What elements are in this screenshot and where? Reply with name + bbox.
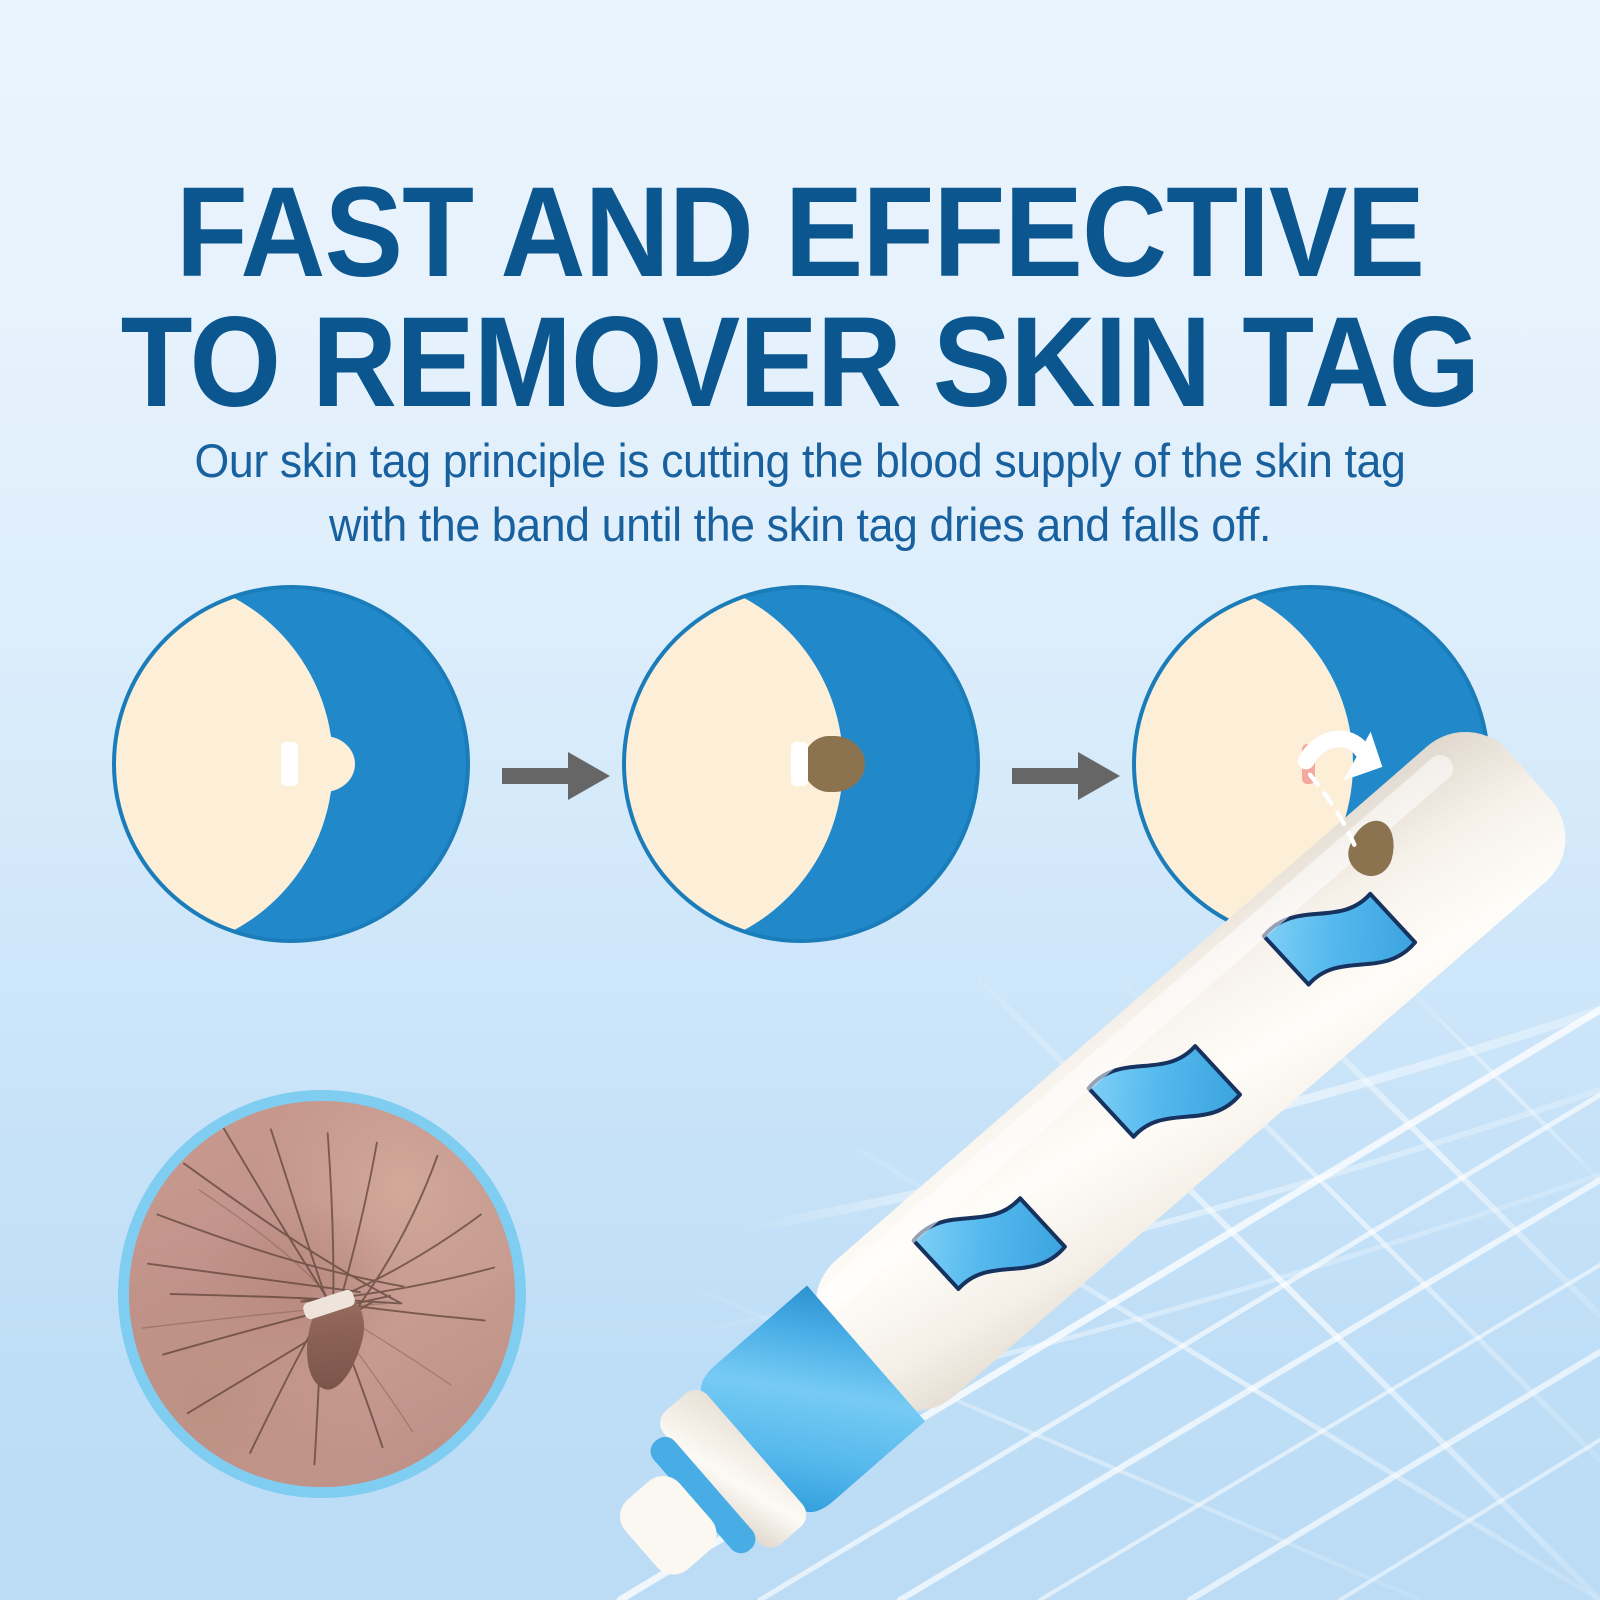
- skin-closeup-photo: [118, 1090, 526, 1498]
- page-subtitle: Our skin tag principle is cutting the bl…: [154, 429, 1446, 558]
- removal-band: [281, 742, 298, 786]
- step-3-circle: [1132, 585, 1490, 943]
- step-1-circle: [112, 585, 470, 943]
- skin-tag-bulb-necrotic: [803, 736, 865, 792]
- device-nozzle: [611, 1467, 726, 1584]
- device-collar: [654, 1383, 813, 1554]
- removal-band: [791, 742, 808, 786]
- falloff-motion-overlay: [1136, 589, 1486, 939]
- arrow-right-icon: [502, 748, 612, 804]
- arrow-right-icon: [1012, 748, 1122, 804]
- page-title: FAST AND EFFECTIVE TO REMOVER SKIN TAG: [64, 168, 1536, 429]
- device-blue-ring: [645, 1432, 761, 1559]
- process-diagram: [0, 585, 1600, 965]
- skin-hairs: [129, 1101, 515, 1487]
- product-infographic-poster: FAST AND EFFECTIVE TO REMOVER SKIN TAG O…: [0, 0, 1600, 1600]
- grip-pad-1: [913, 1168, 1065, 1320]
- grip-pad-2: [1088, 1015, 1240, 1167]
- device-blue-tip: [694, 1285, 925, 1519]
- step-2-circle: [622, 585, 980, 943]
- skin-tag-bulb: [293, 736, 355, 792]
